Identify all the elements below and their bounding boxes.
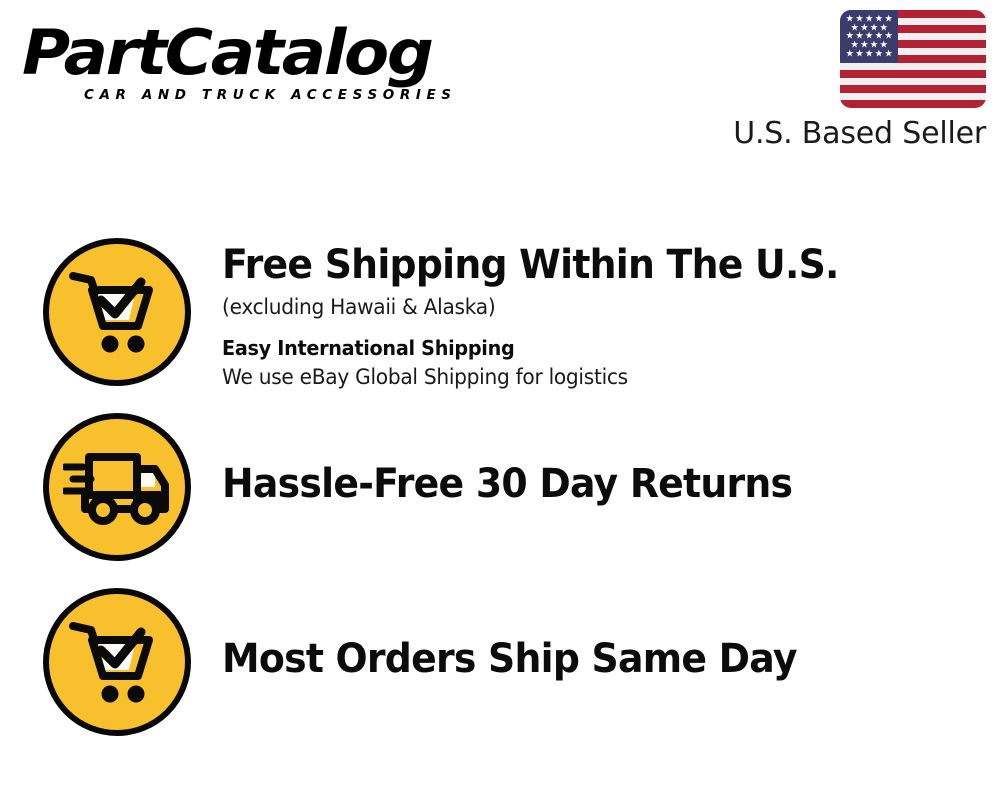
shopping-cart-check-icon: [43, 238, 191, 386]
us-flag-icon: ★★★★★★★★★★★★★★★★★★★★★★★: [840, 10, 986, 108]
brand-tagline: CAR AND TRUCK ACCESSORIES: [84, 87, 492, 103]
flag-stripe: [840, 100, 986, 108]
feature-subtext-note: We use eBay Global Shipping for logistic…: [222, 362, 969, 392]
flag-star: ★: [884, 49, 893, 59]
flag-star: ★: [865, 49, 874, 59]
feature-subtext-strong: Easy International Shipping: [222, 334, 969, 362]
feature-headline: Hassle-Free 30 Day Returns: [222, 461, 957, 507]
feature-row: Most Orders Ship Same Day: [0, 588, 1000, 763]
seller-badge-label: U.S. Based Seller: [716, 117, 986, 151]
feature-text-block: Free Shipping Within The U.S. (excluding…: [191, 238, 1000, 392]
flag-star: ★: [875, 49, 884, 59]
flag-stripe: [840, 70, 986, 78]
feature-row: Free Shipping Within The U.S. (excluding…: [0, 238, 1000, 413]
shopping-cart-check-icon: [43, 588, 191, 736]
flag-stripe: [840, 78, 986, 86]
feature-subtext: (excluding Hawaii & Alaska): [222, 292, 969, 322]
brand-logo[interactable]: PartCatalog CAR AND TRUCK ACCESSORIES: [22, 20, 492, 120]
feature-row: Hassle-Free 30 Day Returns: [0, 413, 1000, 588]
brand-wordmark: PartCatalog: [22, 20, 520, 86]
flag-star: ★: [845, 49, 854, 59]
delivery-truck-icon: [43, 413, 191, 561]
flag-stars: ★★★★★★★★★★★★★★★★★★★★★★★: [840, 10, 898, 63]
flag-stripe: [840, 85, 986, 93]
feature-text-block: Hassle-Free 30 Day Returns: [191, 413, 1000, 507]
feature-headline: Free Shipping Within The U.S.: [222, 242, 957, 288]
seller-badge: ★★★★★★★★★★★★★★★★★★★★★★★ U.S. Based Selle…: [716, 10, 986, 151]
feature-text-block: Most Orders Ship Same Day: [191, 588, 1000, 682]
page-header: PartCatalog CAR AND TRUCK ACCESSORIES: [0, 0, 1000, 170]
feature-headline: Most Orders Ship Same Day: [222, 636, 957, 682]
flag-stripe: [840, 63, 986, 71]
flag-stripe: [840, 93, 986, 101]
flag-star: ★: [855, 49, 864, 59]
